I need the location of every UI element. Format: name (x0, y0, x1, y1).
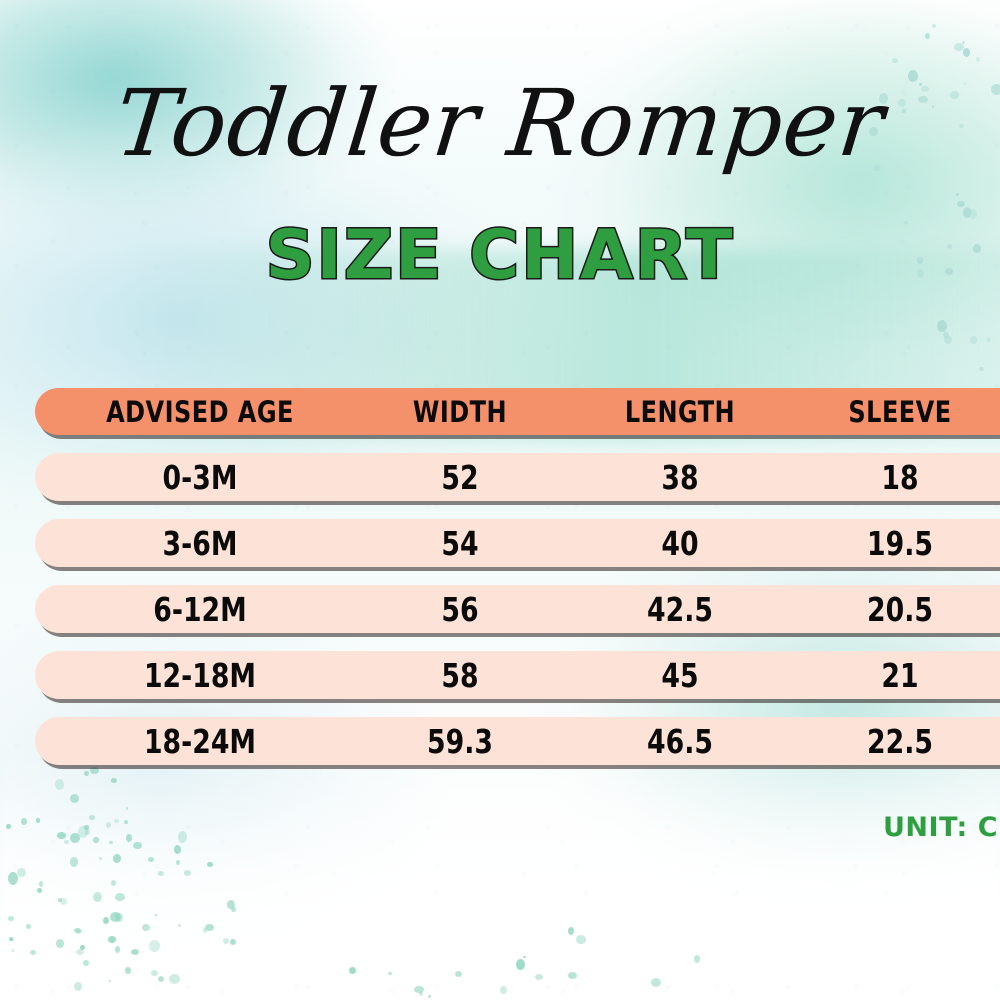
cell-age: 18-24M (52, 717, 349, 765)
cell-sleeve: 21 (815, 651, 986, 699)
table-row: 3-6M544019.5 (35, 519, 1000, 567)
cell-age: 0-3M (52, 453, 349, 501)
column-header-advised-age: ADVISED AGE (48, 388, 352, 435)
size-table: ADVISED AGE WIDTH LENGTH SLEEVE 0-3M5238… (35, 388, 1000, 783)
cell-width: 52 (375, 453, 546, 501)
column-header-sleeve: SLEEVE (813, 388, 988, 435)
unit-note: UNIT: CM (883, 812, 1000, 843)
cell-sleeve: 22.5 (815, 717, 986, 765)
cell-width: 59.3 (375, 717, 546, 765)
table-header-row: ADVISED AGE WIDTH LENGTH SLEEVE (35, 388, 1000, 435)
table-row: 0-3M523818 (35, 453, 1000, 501)
cell-length: 45 (568, 651, 793, 699)
cell-length: 40 (568, 519, 793, 567)
cell-length: 38 (568, 453, 793, 501)
page-title: Toddler Romper (0, 78, 1000, 170)
column-header-width: WIDTH (373, 388, 548, 435)
cell-sleeve: 20.5 (815, 585, 986, 633)
column-header-length: LENGTH (565, 388, 795, 435)
cell-sleeve: 18 (815, 453, 986, 501)
cell-length: 46.5 (568, 717, 793, 765)
cell-age: 12-18M (52, 651, 349, 699)
table-row: 12-18M584521 (35, 651, 1000, 699)
cell-width: 54 (375, 519, 546, 567)
cell-age: 6-12M (52, 585, 349, 633)
page-subtitle: SIZE CHART (0, 222, 1000, 290)
cell-width: 58 (375, 651, 546, 699)
table-row: 18-24M59.346.522.5 (35, 717, 1000, 765)
cell-width: 56 (375, 585, 546, 633)
cell-age: 3-6M (52, 519, 349, 567)
table-row: 6-12M5642.520.5 (35, 585, 1000, 633)
size-chart-page: Toddler Romper SIZE CHART ADVISED AGE WI… (0, 0, 1000, 1000)
cell-sleeve: 19.5 (815, 519, 986, 567)
cell-length: 42.5 (568, 585, 793, 633)
table-body: 0-3M5238183-6M544019.56-12M5642.520.512-… (35, 453, 1000, 765)
